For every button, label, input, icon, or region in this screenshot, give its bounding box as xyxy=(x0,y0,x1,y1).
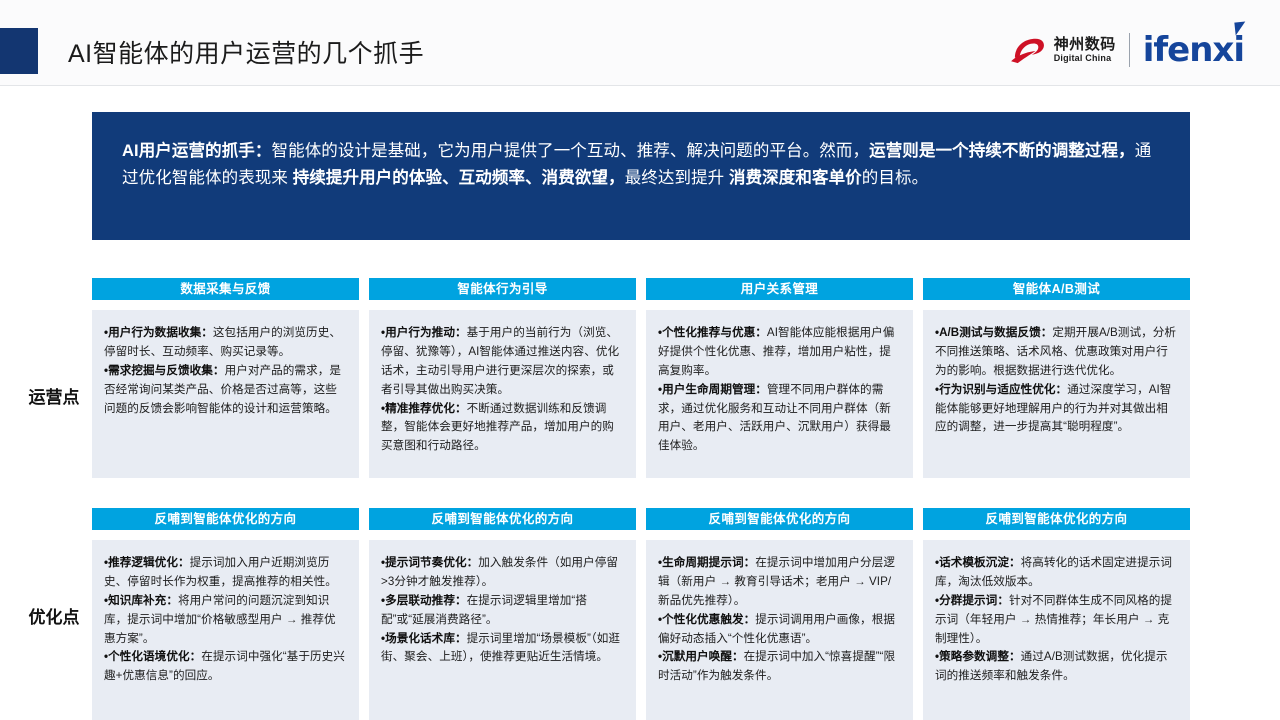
bullet-item: •用户生命周期管理：管理不同用户群体的需求，通过优化服务和互动让不同用户群体（新… xyxy=(658,381,901,457)
bullet-item: •用户行为推动：基于用户的当前行为（浏览、停留、犹豫等），AI智能体通过推送内容… xyxy=(381,324,624,400)
grid-column: 智能体A/B测试 •A/B测试与数据反馈：定期开展A/B测试，分析不同推送策略、… xyxy=(923,278,1190,478)
bullet-item: •知识库补充：将用户常问的问题沉淀到知识库，提示词中增加“价格敏感型用户 → 推… xyxy=(104,592,347,649)
bullet-item-title: •行为识别与适应性优化： xyxy=(935,383,1067,396)
row-label-operations: 运营点 xyxy=(16,383,92,408)
header-accent-bar xyxy=(0,28,38,74)
bullet-item-title: •用户生命周期管理： xyxy=(658,383,767,396)
ifenxi-logo: ifenxi xyxy=(1143,33,1244,67)
bullet-item-title: •多层联动推荐： xyxy=(381,594,467,607)
bullet-item-title: •用户行为数据收集： xyxy=(104,326,213,339)
column-header: 反哺到智能体优化的方向 xyxy=(923,508,1190,530)
summary-text: AI用户运营的抓手：智能体的设计是基础，它为用户提供了一个互动、推荐、解决问题的… xyxy=(122,138,1160,191)
bullet-item: •多层联动推荐：在提示词逻辑里增加“搭配”或“延展消费路径”。 xyxy=(381,592,624,630)
column-header: 用户关系管理 xyxy=(646,278,913,300)
summary-bold-3: 消费深度和客单价 xyxy=(729,169,862,187)
bullet-item-title: •A/B测试与数据反馈： xyxy=(935,326,1052,339)
bullet-item: •个性化语境优化：在提示词中强化“基于历史兴趣+优惠信息”的回应。 xyxy=(104,648,347,686)
column-header: 反哺到智能体优化的方向 xyxy=(92,508,359,530)
column-header: 数据采集与反馈 xyxy=(92,278,359,300)
digital-china-en-label: Digital China xyxy=(1054,54,1116,63)
optimization-grid: 反哺到智能体优化的方向 •推荐逻辑优化：提示词加入用户近期浏览历史、停留时长作为… xyxy=(92,508,1190,720)
grid-column: 智能体行为引导 •用户行为推动：基于用户的当前行为（浏览、停留、犹豫等），AI智… xyxy=(369,278,636,478)
bullet-item-title: •场景化话术库： xyxy=(381,632,467,645)
bullet-item: •提示词节奏优化：加入触发条件（如用户停留>3分钟才触发推荐）。 xyxy=(381,554,624,592)
summary-body-3: 最终达到提升 xyxy=(625,169,729,187)
grid-column: 用户关系管理 •个性化推荐与优惠：AI智能体应能根据用户偏好提供个性化优惠、推荐… xyxy=(646,278,913,478)
column-body: •话术模板沉淀：将高转化的话术固定进提示词库，淘汰低效版本。•分群提示词：针对不… xyxy=(923,540,1190,720)
column-header: 智能体A/B测试 xyxy=(923,278,1190,300)
bullet-item-title: •推荐逻辑优化： xyxy=(104,556,190,569)
bullet-item-title: •策略参数调整： xyxy=(935,650,1021,663)
page-title: AI智能体的用户运营的几个抓手 xyxy=(68,34,424,70)
bullet-item: •精准推荐优化：不断通过数据训练和反馈调整，智能体会更好地推荐产品，增加用户的购… xyxy=(381,400,624,457)
bullet-item-title: •沉默用户唤醒： xyxy=(658,650,744,663)
column-body: •推荐逻辑优化：提示词加入用户近期浏览历史、停留时长作为权重，提高推荐的相关性。… xyxy=(92,540,359,720)
bullet-item: •分群提示词：针对不同群体生成不同风格的提示词（年轻用户 → 热情推荐；年长用户… xyxy=(935,592,1178,649)
bullet-item-title: •提示词节奏优化： xyxy=(381,556,478,569)
bullet-item-title: •个性化语境优化： xyxy=(104,650,201,663)
summary-body-4: 的目标。 xyxy=(862,169,928,187)
summary-banner: AI用户运营的抓手：智能体的设计是基础，它为用户提供了一个互动、推荐、解决问题的… xyxy=(92,112,1190,240)
bullet-item: •个性化优惠触发：提示词调用用户画像，根据偏好动态插入“个性化优惠语”。 xyxy=(658,611,901,649)
column-body: •用户行为推动：基于用户的当前行为（浏览、停留、犹豫等），AI智能体通过推送内容… xyxy=(369,310,636,478)
bullet-item-title: •用户行为推动： xyxy=(381,326,467,339)
logo-divider xyxy=(1129,33,1130,67)
column-body: •用户行为数据收集：这包括用户的浏览历史、停留时长、互动频率、购买记录等。•需求… xyxy=(92,310,359,478)
ifenxi-wordmark: ifenxi xyxy=(1143,30,1244,70)
column-body: •生命周期提示词：在提示词中增加用户分层逻辑（新用户 → 教育引导话术；老用户 … xyxy=(646,540,913,720)
grid-column: 反哺到智能体优化的方向 •话术模板沉淀：将高转化的话术固定进提示词库，淘汰低效版… xyxy=(923,508,1190,720)
bullet-item-title: •分群提示词： xyxy=(935,594,1009,607)
operations-grid: 数据采集与反馈 •用户行为数据收集：这包括用户的浏览历史、停留时长、互动频率、购… xyxy=(92,278,1190,478)
row-label-optimization: 优化点 xyxy=(16,603,92,628)
bullet-item: •沉默用户唤醒：在提示词中加入“惊喜提醒”“限时活动”作为触发条件。 xyxy=(658,648,901,686)
summary-body-1: 智能体的设计是基础，它为用户提供了一个互动、推荐、解决问题的平台。然而， xyxy=(272,142,870,160)
bullet-item: •话术模板沉淀：将高转化的话术固定进提示词库，淘汰低效版本。 xyxy=(935,554,1178,592)
bullet-item-title: •话术模板沉淀： xyxy=(935,556,1021,569)
logo-group: 神州数码 Digital China ifenxi xyxy=(1009,28,1244,72)
ifenxi-flag-icon xyxy=(1234,21,1246,35)
digital-china-cn-label: 神州数码 xyxy=(1054,37,1116,52)
page-header: AI智能体的用户运营的几个抓手 神州数码 Digital China ifenx… xyxy=(0,0,1280,86)
grid-column: 反哺到智能体优化的方向 •推荐逻辑优化：提示词加入用户近期浏览历史、停留时长作为… xyxy=(92,508,359,720)
grid-column: 反哺到智能体优化的方向 •提示词节奏优化：加入触发条件（如用户停留>3分钟才触发… xyxy=(369,508,636,720)
bullet-item-title: •知识库补充： xyxy=(104,594,178,607)
summary-lead: AI用户运营的抓手： xyxy=(122,142,272,160)
bullet-item-title: •生命周期提示词： xyxy=(658,556,755,569)
bullet-item: •推荐逻辑优化：提示词加入用户近期浏览历史、停留时长作为权重，提高推荐的相关性。 xyxy=(104,554,347,592)
bullet-item-title: •个性化优惠触发： xyxy=(658,613,755,626)
grid-column: 数据采集与反馈 •用户行为数据收集：这包括用户的浏览历史、停留时长、互动频率、购… xyxy=(92,278,359,478)
column-header: 反哺到智能体优化的方向 xyxy=(369,508,636,530)
column-body: •个性化推荐与优惠：AI智能体应能根据用户偏好提供个性化优惠、推荐，增加用户粘性… xyxy=(646,310,913,478)
bullet-item: •生命周期提示词：在提示词中增加用户分层逻辑（新用户 → 教育引导话术；老用户 … xyxy=(658,554,901,611)
summary-bold-1: 运营则是一个持续不断的调整过程， xyxy=(869,142,1135,160)
summary-bold-2: 持续提升用户的体验、互动频率、消费欲望， xyxy=(293,169,625,187)
bullet-item: •用户行为数据收集：这包括用户的浏览历史、停留时长、互动频率、购买记录等。 xyxy=(104,324,347,362)
bullet-item-title: •需求挖掘与反馈收集： xyxy=(104,364,225,377)
grid-column: 反哺到智能体优化的方向 •生命周期提示词：在提示词中增加用户分层逻辑（新用户 →… xyxy=(646,508,913,720)
bullet-item: •策略参数调整：通过A/B测试数据，优化提示词的推送频率和触发条件。 xyxy=(935,648,1178,686)
bullet-item: •场景化话术库：提示词里增加“场景模板”（如逛街、聚会、上班），使推荐更贴近生活… xyxy=(381,630,624,668)
column-header: 反哺到智能体优化的方向 xyxy=(646,508,913,530)
bullet-item: •个性化推荐与优惠：AI智能体应能根据用户偏好提供个性化优惠、推荐，增加用户粘性… xyxy=(658,324,901,381)
bullet-item-title: •精准推荐优化： xyxy=(381,402,467,415)
digital-china-logo: 神州数码 Digital China xyxy=(1009,35,1116,65)
digital-china-mark-icon xyxy=(1009,35,1047,65)
digital-china-wordmark: 神州数码 Digital China xyxy=(1054,37,1116,63)
column-body: •A/B测试与数据反馈：定期开展A/B测试，分析不同推送策略、话术风格、优惠政策… xyxy=(923,310,1190,478)
bullet-item-title: •个性化推荐与优惠： xyxy=(658,326,767,339)
bullet-item: •A/B测试与数据反馈：定期开展A/B测试，分析不同推送策略、话术风格、优惠政策… xyxy=(935,324,1178,381)
bullet-item: •行为识别与适应性优化：通过深度学习，AI智能体能够更好地理解用户的行为并对其做… xyxy=(935,381,1178,438)
column-header: 智能体行为引导 xyxy=(369,278,636,300)
column-body: •提示词节奏优化：加入触发条件（如用户停留>3分钟才触发推荐）。•多层联动推荐：… xyxy=(369,540,636,720)
bullet-item: •需求挖掘与反馈收集：用户对产品的需求，是否经常询问某类产品、价格是否过高等，这… xyxy=(104,362,347,419)
